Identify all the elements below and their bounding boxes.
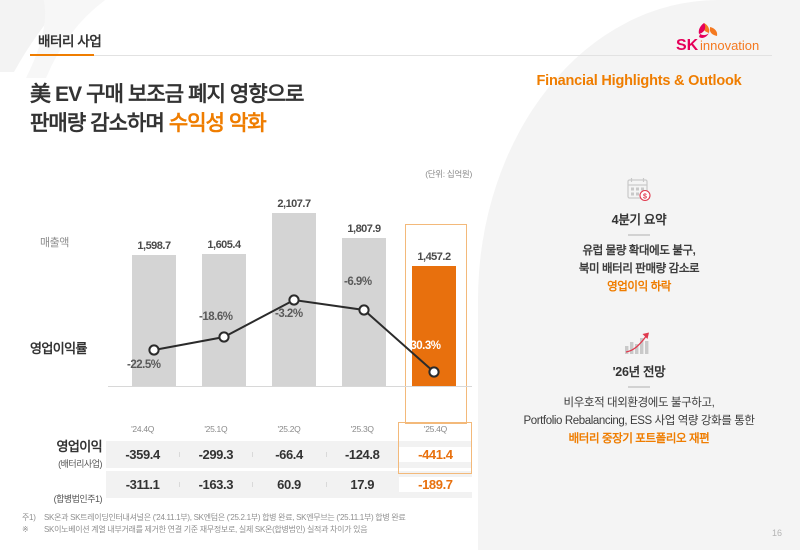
- page-number: 16: [772, 528, 782, 538]
- margin-point-label: -22.5%: [127, 359, 160, 371]
- table-cell: -124.8: [326, 447, 399, 462]
- table-row: -311.1 -163.3 60.9 17.9 -189.7: [106, 471, 472, 498]
- section-label: 배터리 사업: [38, 30, 101, 50]
- table-cell: 17.9: [326, 477, 399, 492]
- table-cell: -299.3: [179, 447, 252, 462]
- svg-text:$: $: [643, 193, 647, 200]
- footnote-row: ※ SK이노베이션 계열 내부거래를 제거한 연결 기준 재무정보로, 실제 S…: [22, 524, 482, 536]
- data-point-marker: [429, 367, 438, 376]
- divider: [628, 386, 650, 388]
- table-cell-highlighted: -441.4: [399, 447, 472, 462]
- table-cell: -66.4: [252, 447, 325, 462]
- logo-word-text: innovation: [700, 38, 759, 53]
- data-point-marker: [289, 295, 298, 304]
- block-heading: '26년 전망: [478, 361, 800, 380]
- growth-chart-arrow-icon: [478, 327, 800, 357]
- headline-line-1: 美 EV 구매 보조금 폐지 영향으로: [30, 80, 460, 109]
- block-heading: 4분기 요약: [478, 209, 800, 228]
- block-line-1: 유럽 물량 확대에도 불구,: [478, 243, 800, 261]
- x-axis-line: [108, 386, 472, 387]
- data-point-marker: [149, 345, 158, 354]
- footnote-row: 주1) SK온과 SK트레이딩인터내셔널은 ('24.11.1부), SK엔텀은…: [22, 512, 482, 524]
- highlight-block-q4-summary: $ 4분기 요약 유럽 물량 확대에도 불구, 북미 배터리 판매량 감소로 영…: [478, 175, 800, 296]
- table-row-label-main: 영업이익: [30, 436, 102, 455]
- header-accent-bar: [30, 54, 94, 56]
- block-line-2: 북미 배터리 판매량 감소로: [478, 261, 800, 279]
- block-line-2: Portfolio Rebalancing, ESS 사업 역량 강화를 통한: [478, 413, 800, 431]
- table-cell: 60.9: [252, 477, 325, 492]
- headline-line-2: 판매량 감소하며 수익성 악화: [30, 109, 460, 138]
- panel-title: Financial Highlights & Outlook: [478, 73, 800, 89]
- butterfly-mark: [699, 23, 717, 38]
- margin-line-series: [110, 198, 472, 386]
- divider: [628, 234, 650, 236]
- footnote-text: SK이노베이션 계열 내부거래를 제거한 연결 기준 재무정보로, 실제 SK온…: [44, 524, 367, 536]
- block-emphasis: 영업이익 하락: [478, 279, 800, 297]
- margin-point-label: -18.6%: [199, 311, 232, 323]
- series-label-margin: 영업이익률: [30, 338, 87, 357]
- data-point-marker: [359, 305, 368, 314]
- headline-line-2-plain: 판매량 감소하며: [30, 112, 169, 135]
- margin-point-label: -3.2%: [275, 308, 303, 320]
- table-cell: -163.3: [179, 477, 252, 492]
- table-cell: -359.4: [106, 447, 179, 462]
- block-line-1: 비우호적 대외환경에도 불구하고,: [478, 395, 800, 413]
- table-column-header: '25.4Q: [399, 424, 472, 441]
- table-row-labels: 영업이익 (배터리사업) (합병법인주1): [30, 424, 102, 505]
- header-divider: [30, 55, 772, 56]
- chart-unit-note: (단위: 십억원): [425, 168, 472, 180]
- headline-line-2-emphasis: 수익성 악화: [169, 112, 266, 135]
- data-point-marker: [219, 332, 228, 341]
- calendar-money-icon: $: [478, 175, 800, 205]
- footnotes: 주1) SK온과 SK트레이딩인터내셔널은 ('24.11.1부), SK엔텀은…: [22, 512, 482, 536]
- table-column-header: '25.2Q: [252, 424, 325, 441]
- table-header-row: '24.4Q '25.1Q '25.2Q '25.3Q '25.4Q: [106, 424, 472, 441]
- page-title: 美 EV 구매 보조금 폐지 영향으로 판매량 감소하며 수익성 악화: [30, 80, 460, 139]
- table-row: -359.4 -299.3 -66.4 -124.8 -441.4: [106, 441, 472, 468]
- footnote-marker: 주1): [22, 512, 44, 524]
- revenue-and-margin-chart: (단위: 십억원) 매출액 영업이익률 1,598.7 1,605.4 2,10…: [30, 168, 472, 423]
- financial-highlights-panel: Financial Highlights & Outlook $ 4분기 요약 …: [478, 0, 800, 550]
- footnote-marker: ※: [22, 524, 44, 536]
- block-emphasis: 배터리 중장기 포트폴리오 재편: [478, 431, 800, 449]
- table-cell-highlighted: -189.7: [399, 477, 472, 492]
- table-column-header: '24.4Q: [106, 424, 179, 441]
- highlight-block-2026-outlook: '26년 전망 비우호적 대외환경에도 불구하고, Portfolio Reba…: [478, 327, 800, 448]
- chart-plot-area: 1,598.7 1,605.4 2,107.7 1,807.9 1,457.2: [110, 198, 472, 386]
- margin-point-label: -6.9%: [344, 276, 372, 288]
- table-column-header: '25.3Q: [326, 424, 399, 441]
- table-grid: '24.4Q '25.1Q '25.2Q '25.3Q '25.4Q -359.…: [106, 424, 472, 498]
- series-label-sales: 매출액: [40, 234, 69, 250]
- footnote-text: SK온과 SK트레이딩인터내셔널은 ('24.11.1부), SK엔텀은 ('2…: [44, 512, 405, 524]
- table-row-label-sub-1: (배터리사업): [30, 457, 102, 470]
- logo-sk-text: SK: [676, 37, 699, 54]
- table-cell: -311.1: [106, 477, 179, 492]
- margin-point-label: -30.3%: [407, 340, 440, 352]
- sk-innovation-logo: SK innovation: [674, 20, 766, 54]
- table-column-header: '25.1Q: [179, 424, 252, 441]
- table-row-label-sub-2: (합병법인주1): [30, 492, 102, 505]
